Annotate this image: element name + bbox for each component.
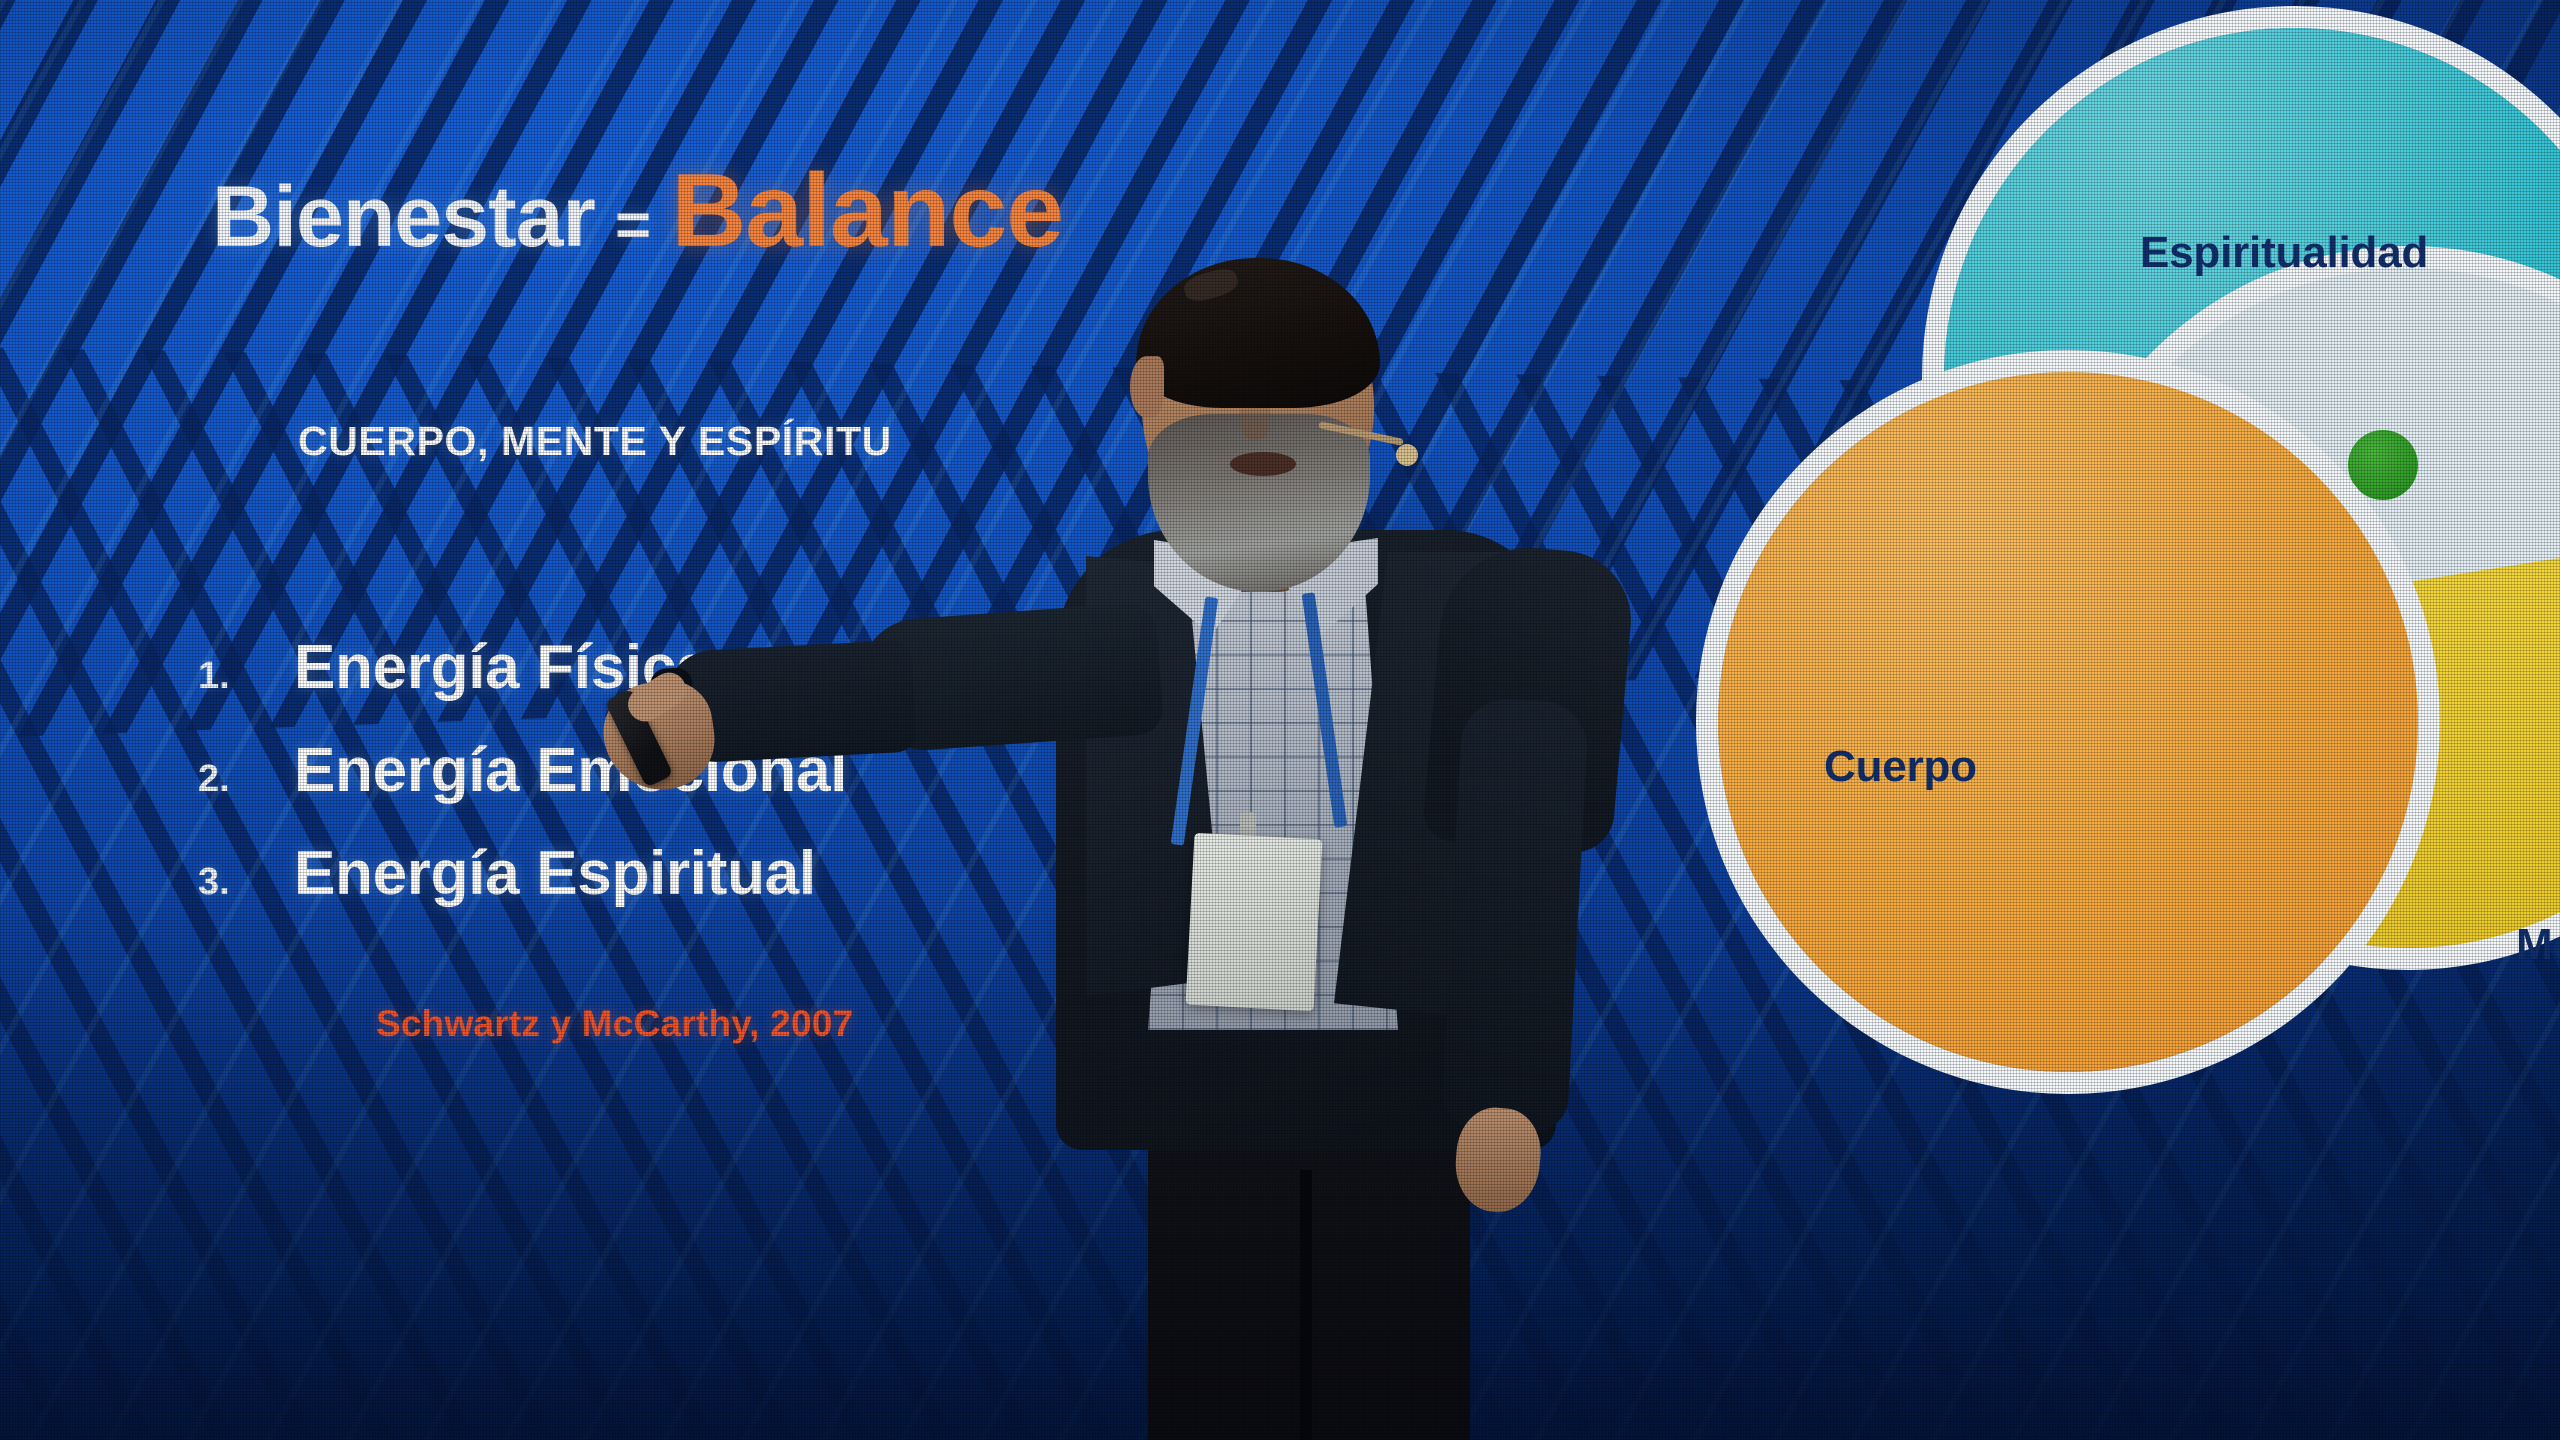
- mente-green-dot-icon: [2348, 430, 2418, 500]
- slide-citation: Schwartz y McCarthy, 2007: [376, 1003, 853, 1045]
- circle-label-cuerpo: Cuerpo: [1824, 742, 1977, 792]
- list-item-number: 2.: [186, 758, 294, 801]
- circle-cuerpo: [1718, 372, 2418, 1072]
- list-item: 3. Energía Espiritual: [186, 838, 847, 909]
- screenshot-stage: Espiritualidad Cuerpo Mente Bienestar = …: [0, 0, 2560, 1440]
- circle-label-espiritualidad: Espiritualidad: [2140, 228, 2428, 278]
- title-word-bienestar: Bienestar: [212, 168, 595, 267]
- circle-label-mente: Mente: [2516, 920, 2560, 970]
- headset-microphone-capsule-icon: [1396, 444, 1418, 466]
- presenter-name-badge: [1186, 833, 1323, 1011]
- slide-title: Bienestar = Balance: [212, 152, 1063, 271]
- list-item-label: Energía Espiritual: [294, 838, 816, 909]
- presenter-leg-seam: [1300, 1170, 1312, 1440]
- list-item-number: 1.: [186, 655, 294, 698]
- presenter-mouth: [1230, 452, 1296, 476]
- presenter-ear-left: [1130, 356, 1164, 418]
- list-item-number: 3.: [186, 861, 294, 904]
- presenter-right-arm: [1441, 697, 1589, 1133]
- title-equals-sign: =: [615, 190, 651, 261]
- title-word-balance: Balance: [671, 152, 1063, 271]
- slide-subtitle: CUERPO, MENTE Y ESPÍRITU: [298, 418, 892, 465]
